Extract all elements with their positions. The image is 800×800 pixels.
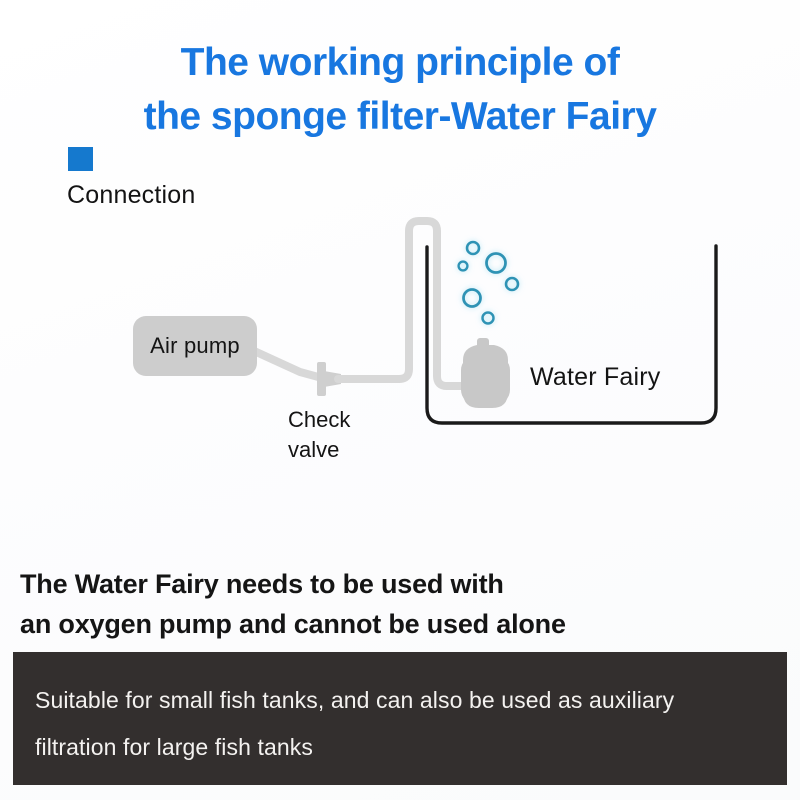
primary-statement: The Water Fairy needs to be used with an… — [20, 564, 760, 644]
bubble-2 — [459, 262, 468, 271]
primary-statement-line-1: The Water Fairy needs to be used with — [20, 564, 760, 604]
bubble-6 — [483, 313, 494, 324]
sponge-filter-body — [461, 338, 510, 408]
check-valve-label-line-1: Check — [288, 405, 408, 435]
bubble-1 — [467, 242, 479, 254]
water-fairy-label: Water Fairy — [530, 363, 660, 392]
section-label-connection: Connection — [67, 180, 195, 210]
check-valve-label: Check valve — [288, 405, 408, 465]
bubble-5 — [464, 290, 481, 307]
air-pump-box: Air pump — [133, 316, 257, 376]
primary-statement-line-2: an oxygen pump and cannot be used alone — [20, 604, 760, 644]
bubble-group — [459, 242, 518, 324]
title-line-2: the sponge filter-Water Fairy — [0, 90, 800, 144]
check-valve-label-line-2: valve — [288, 435, 408, 465]
dark-callout-panel: Suitable for small fish tanks, and can a… — [13, 652, 787, 785]
air-tube-pump-to-valve — [252, 350, 322, 378]
dark-callout-line-1: Suitable for small fish tanks, and can a… — [35, 677, 775, 724]
check-valve-icon — [317, 362, 341, 396]
air-tube-valve-to-filter — [338, 221, 464, 386]
product-infographic-page: The working principle of the sponge filt… — [0, 0, 800, 800]
dark-callout-line-2: filtration for large fish tanks — [35, 724, 775, 771]
title-line-1: The working principle of — [0, 36, 800, 90]
page-title: The working principle of the sponge filt… — [0, 36, 800, 144]
bubble-4 — [506, 278, 518, 290]
air-pump-label: Air pump — [150, 333, 240, 359]
aquarium-tank-outline — [427, 246, 716, 423]
dark-callout-text: Suitable for small fish tanks, and can a… — [35, 677, 775, 771]
blue-square-bullet-icon — [68, 147, 93, 171]
bubble-3 — [487, 254, 506, 273]
